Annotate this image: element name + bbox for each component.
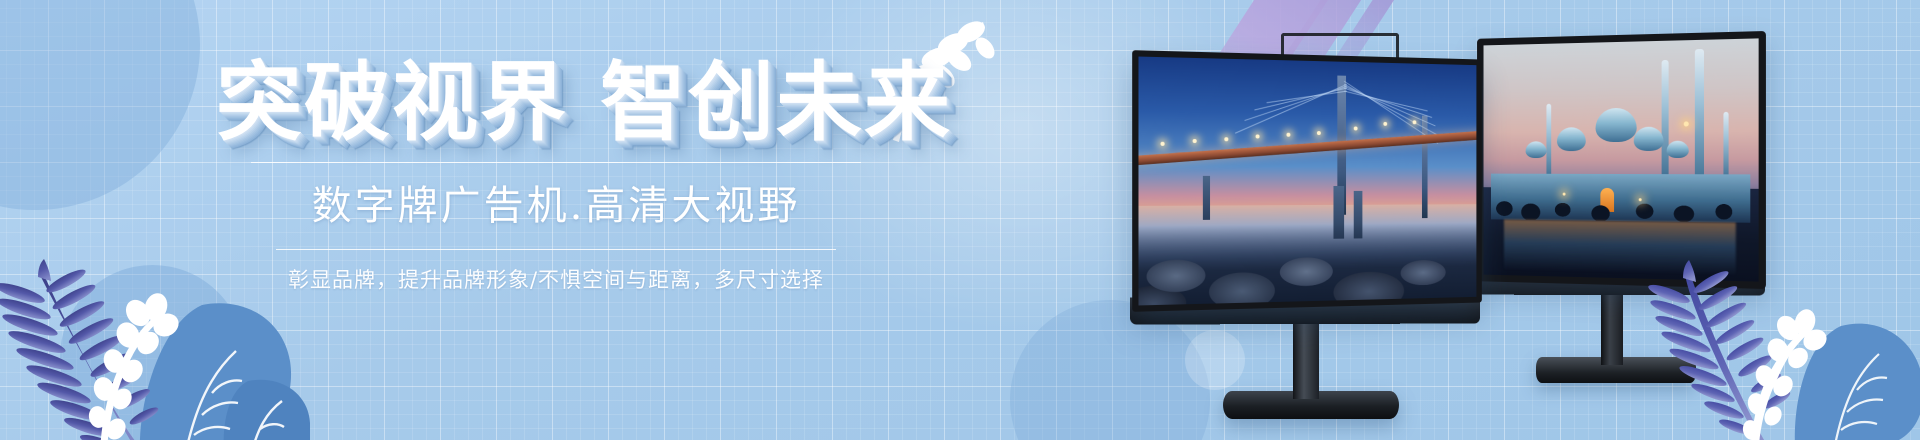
white-sprig-branch: [87, 290, 183, 440]
headline: 突破视界 智创未来: [216, 60, 896, 146]
subheadline: 数字牌广告机.高清大视野: [216, 173, 896, 231]
divider-bottom: [276, 249, 836, 250]
monitor-back-neck: [1601, 293, 1623, 365]
monstera-leaf-blue: [1795, 324, 1920, 440]
monitor-front: AOC: [1135, 55, 1492, 307]
monitor-back-panel: [1477, 31, 1766, 289]
divider-top: [251, 162, 861, 163]
screen-image-mosque: [1484, 38, 1759, 281]
promo-banner: 突破视界 智创未来 数字牌广告机.高清大视野 彰显品牌，提升品牌形象/不惧空间与…: [0, 0, 1920, 440]
white-sprig-branch: [1741, 307, 1830, 440]
monitor-back: AOC: [1470, 35, 1764, 285]
copy-block: 突破视界 智创未来 数字牌广告机.高清大视野 彰显品牌，提升品牌形象/不惧空间与…: [216, 60, 896, 294]
tagline: 彰显品牌，提升品牌形象/不惧空间与距离，多尺寸选择: [216, 264, 896, 294]
monitor-front-panel: [1132, 50, 1482, 312]
screen-image-bridge: [1138, 57, 1476, 306]
monstera-leaf-blue: [140, 303, 310, 440]
monitor-front-neck: [1293, 321, 1319, 399]
fern-leaf-purple: [0, 259, 160, 440]
decorative-circle-small: [1185, 330, 1245, 390]
decorative-circle-top-left: [0, 0, 200, 210]
